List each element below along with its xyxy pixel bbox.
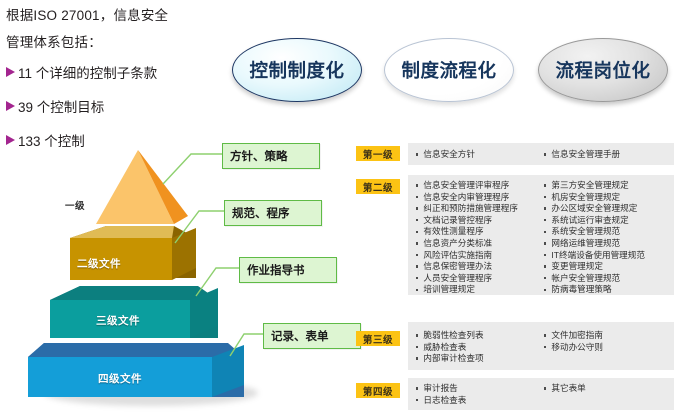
list-item[interactable]: 信息安全管理评审程序 [416,180,548,191]
leader-line-1 [163,148,225,188]
pyramid-level-4[interactable]: 四级文件 [28,335,244,395]
bullet-dot-icon [544,184,546,186]
list-item[interactable]: 文档记录管控程序 [416,215,548,226]
list-item-label: 帐户安全管理规范 [551,273,620,284]
bullet-dot-icon [544,196,546,198]
triangle-bullet-icon [6,135,15,145]
list-item[interactable]: 培训管理规定 [416,284,548,295]
intro-bullet-1-label: 11 个详细的控制子条款 [18,62,157,82]
bullet-dot-icon [544,207,546,209]
list-item-label: 信息保密管理办法 [423,261,492,272]
list-item-label: 信息安全方针 [423,149,475,160]
list-item[interactable]: 信息资产分类标准 [416,238,548,249]
callout-work-instruction-label: 作业指导书 [247,262,305,278]
callout-standard-procedure-label: 规范、程序 [232,205,290,221]
list-item-label: 审计报告 [423,383,457,394]
list-item-label: 脆弱性检查列表 [423,330,483,341]
list-item-label: 威胁检查表 [423,342,466,353]
callout-policy-strategy[interactable]: 方针、策略 [222,143,320,169]
bullet-dot-icon [416,231,418,233]
intro-bullet-1: 11 个详细的控制子条款 [6,62,228,82]
tag-level-3[interactable]: 第三级 [356,331,400,346]
list-item-label: 信息资产分类标准 [423,238,492,249]
list-item[interactable]: 机房安全管理规定 [544,192,678,203]
list-item[interactable]: 内部审计检查项 [416,353,548,364]
list-item-label: 有效性测量程序 [423,226,483,237]
intro-line-1: 根据ISO 27001，信息安全 [6,8,228,24]
list-item[interactable]: 信息保密管理办法 [416,261,548,272]
list-item-label: 移动办公守则 [551,342,603,353]
bullet-dot-icon [416,289,418,291]
list-item-label: 风险评估实施指南 [423,250,492,261]
list-item-label: 第三方安全管理规定 [551,180,628,191]
bullet-dot-icon [416,219,418,221]
list-item-label: 信息安全内审管理程序 [423,192,509,203]
list-item[interactable]: 审计报告 [416,383,548,394]
callout-work-instruction[interactable]: 作业指导书 [239,257,337,283]
list-item[interactable]: 帐户安全管理规范 [544,273,678,284]
list-item[interactable]: 防病毒管理策略 [544,284,678,295]
list-item-label: 信息安全管理评审程序 [423,180,509,191]
list-item-label: 人员安全管理程序 [423,273,492,284]
list-level-4-left: 审计报告 日志检查表 [416,383,548,406]
callout-record-form[interactable]: 记录、表单 [263,323,361,349]
list-level-3-left: 脆弱性检查列表 威胁检查表 内部审计检查项 [416,330,548,365]
list-level-1-left: 信息安全方针 [416,149,546,161]
bullet-dot-icon [544,254,546,256]
list-item[interactable]: 第三方安全管理规定 [544,180,678,191]
list-item-label: 文件加密指南 [551,330,603,341]
oval-badge-system-processization[interactable]: 制度流程化 [384,38,514,102]
tag-level-4[interactable]: 第四级 [356,383,400,398]
list-item[interactable]: 日志检查表 [416,395,548,406]
bullet-dot-icon [416,196,418,198]
bullet-dot-icon [416,277,418,279]
bullet-dot-icon [416,207,418,209]
list-item[interactable]: 有效性测量程序 [416,226,548,237]
bullet-dot-icon [416,254,418,256]
list-item-label: 系统试运行审查规定 [551,215,628,226]
slide-canvas: 根据ISO 27001，信息安全 管理体系包括： 11 个详细的控制子条款 39… [0,0,678,414]
list-item-label: 其它表单 [551,383,585,394]
list-level-2-left: 信息安全管理评审程序 信息安全内审管理程序 纠正和预防措施管理程序 文档记录管控… [416,180,548,296]
list-item-label: IT终端设备使用管理规范 [551,250,645,261]
bullet-dot-icon [544,346,546,348]
bullet-dot-icon [416,399,418,401]
oval-badge-process-roleization[interactable]: 流程岗位化 [538,38,668,102]
list-item[interactable]: 变更管理规定 [544,261,678,272]
list-item-label: 网络运维管理规范 [551,238,620,249]
list-item-label: 变更管理规定 [551,261,603,272]
bullet-dot-icon [544,265,546,267]
list-item[interactable]: 办公区域安全管理规定 [544,203,678,214]
list-item[interactable]: 网络运维管理规范 [544,238,678,249]
leader-line-2 [175,205,227,247]
list-item[interactable]: IT终端设备使用管理规范 [544,250,678,261]
tag-level-2[interactable]: 第二级 [356,179,400,194]
intro-bullet-2: 39 个控制目标 [6,96,228,116]
list-item[interactable]: 威胁检查表 [416,342,548,353]
list-level-3-right: 文件加密指南 移动办公守则 [544,330,678,353]
bullet-dot-icon [416,153,418,155]
list-item[interactable]: 信息安全内审管理程序 [416,192,548,203]
list-item[interactable]: 信息安全方针 [416,149,546,160]
list-item[interactable]: 信息安全管理手册 [544,149,676,160]
leader-line-4 [230,328,266,360]
list-level-1-right: 信息安全管理手册 [544,149,676,161]
callout-policy-strategy-label: 方针、策略 [230,148,288,164]
list-item[interactable]: 纠正和预防措施管理程序 [416,203,548,214]
list-item[interactable]: 人员安全管理程序 [416,273,548,284]
list-item[interactable]: 系统安全管理规范 [544,226,678,237]
list-item-label: 系统安全管理规范 [551,226,620,237]
tag-level-1[interactable]: 第一级 [356,146,400,161]
list-item-label: 机房安全管理规定 [551,192,620,203]
bullet-dot-icon [544,387,546,389]
list-item[interactable]: 系统试运行审查规定 [544,215,678,226]
bullet-dot-icon [544,219,546,221]
intro-line-2: 管理体系包括： [6,35,228,51]
bullet-dot-icon [416,184,418,186]
list-level-4-right: 其它表单 [544,383,678,395]
list-item[interactable]: 其它表单 [544,383,678,394]
list-item-label: 办公区域安全管理规定 [551,203,637,214]
list-item[interactable]: 风险评估实施指南 [416,250,548,261]
bullet-dot-icon [416,242,418,244]
list-item[interactable]: 文件加密指南 [544,330,678,341]
intro-bullet-2-label: 39 个控制目标 [18,96,104,116]
list-item-label: 纠正和预防措施管理程序 [423,203,518,214]
list-item-label: 内部审计检查项 [423,353,483,364]
list-item-label: 培训管理规定 [423,284,475,295]
list-item-label: 文档记录管控程序 [423,215,492,226]
list-item[interactable]: 移动办公守则 [544,342,678,353]
bullet-dot-icon [544,242,546,244]
list-item-label: 防病毒管理策略 [551,284,611,295]
bullet-dot-icon [416,357,418,359]
list-item-label: 日志检查表 [423,395,466,406]
bullet-dot-icon [544,289,546,291]
bullet-dot-icon [544,277,546,279]
triangle-bullet-icon [6,67,15,77]
bullet-dot-icon [416,346,418,348]
bullet-dot-icon [544,334,546,336]
bullet-dot-icon [544,153,546,155]
callout-record-form-label: 记录、表单 [271,328,329,344]
bullet-dot-icon [544,231,546,233]
leader-line-3 [196,262,242,300]
bullet-dot-icon [416,334,418,336]
callout-standard-procedure[interactable]: 规范、程序 [224,200,322,226]
oval-badge-control-systemization[interactable]: 控制制度化 [232,38,362,102]
list-item-label: 信息安全管理手册 [551,149,620,160]
bullet-dot-icon [416,387,418,389]
triangle-bullet-icon [6,101,15,111]
list-item[interactable]: 脆弱性检查列表 [416,330,548,341]
list-level-2-right: 第三方安全管理规定 机房安全管理规定 办公区域安全管理规定 系统试运行审查规定 … [544,180,678,296]
bullet-dot-icon [416,265,418,267]
